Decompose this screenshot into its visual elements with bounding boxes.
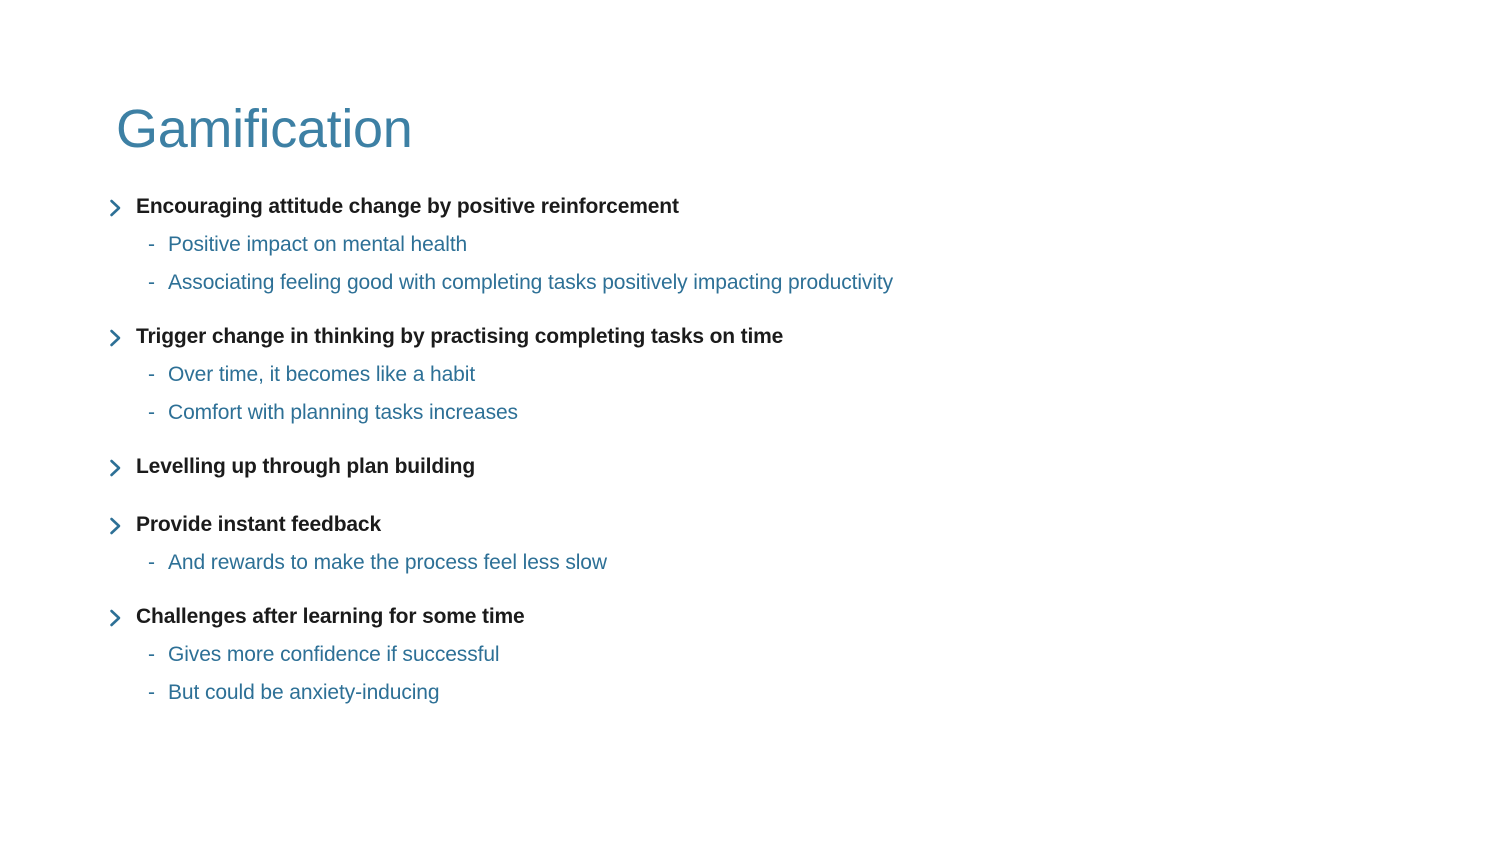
bullet-list: Encouraging attitude change by positive … bbox=[106, 193, 1446, 733]
bullet-item[interactable]: Encouraging attitude change by positive … bbox=[106, 193, 1446, 221]
bullet-item[interactable]: Levelling up through plan building bbox=[106, 453, 1446, 481]
dash-marker-icon: - bbox=[148, 640, 161, 669]
sub-bullet-item[interactable]: -Positive impact on mental health bbox=[106, 230, 1446, 259]
sub-bullet-label: Gives more confidence if successful bbox=[168, 640, 499, 669]
sub-bullet-label: Associating feeling good with completing… bbox=[168, 268, 893, 297]
page-title: Gamification bbox=[116, 95, 413, 163]
bullet-group: Challenges after learning for some time-… bbox=[106, 603, 1446, 707]
bullet-item[interactable]: Challenges after learning for some time bbox=[106, 603, 1446, 631]
chevron-right-icon bbox=[106, 454, 126, 482]
sub-bullet-list: -And rewards to make the process feel le… bbox=[106, 548, 1446, 577]
dash-marker-icon: - bbox=[148, 678, 161, 707]
bullet-item-label: Provide instant feedback bbox=[136, 511, 381, 539]
dash-marker-icon: - bbox=[148, 398, 161, 427]
sub-bullet-item[interactable]: -And rewards to make the process feel le… bbox=[106, 548, 1446, 577]
sub-bullet-label: But could be anxiety-inducing bbox=[168, 678, 439, 707]
slide-canvas: Gamification Encouraging attitude change… bbox=[0, 0, 1500, 844]
dash-marker-icon: - bbox=[148, 230, 161, 259]
chevron-right-icon bbox=[106, 324, 126, 352]
bullet-group: Encouraging attitude change by positive … bbox=[106, 193, 1446, 297]
bullet-item[interactable]: Trigger change in thinking by practising… bbox=[106, 323, 1446, 351]
sub-bullet-item[interactable]: -Associating feeling good with completin… bbox=[106, 268, 1446, 297]
bullet-item-label: Trigger change in thinking by practising… bbox=[136, 323, 783, 351]
dash-marker-icon: - bbox=[148, 360, 161, 389]
bullet-group: Trigger change in thinking by practising… bbox=[106, 323, 1446, 427]
chevron-right-icon bbox=[106, 512, 126, 540]
bullet-item-label: Challenges after learning for some time bbox=[136, 603, 525, 631]
sub-bullet-label: Positive impact on mental health bbox=[168, 230, 467, 259]
sub-bullet-list: -Over time, it becomes like a habit-Comf… bbox=[106, 360, 1446, 427]
bullet-item-label: Encouraging attitude change by positive … bbox=[136, 193, 679, 221]
sub-bullet-item[interactable]: -Gives more confidence if successful bbox=[106, 640, 1446, 669]
sub-bullet-label: And rewards to make the process feel les… bbox=[168, 548, 607, 577]
chevron-right-icon bbox=[106, 194, 126, 222]
sub-bullet-label: Comfort with planning tasks increases bbox=[168, 398, 518, 427]
dash-marker-icon: - bbox=[148, 268, 161, 297]
dash-marker-icon: - bbox=[148, 548, 161, 577]
sub-bullet-list: -Gives more confidence if successful-But… bbox=[106, 640, 1446, 707]
bullet-item[interactable]: Provide instant feedback bbox=[106, 511, 1446, 539]
bullet-group: Provide instant feedback-And rewards to … bbox=[106, 511, 1446, 577]
chevron-right-icon bbox=[106, 604, 126, 632]
bullet-group: Levelling up through plan building bbox=[106, 453, 1446, 481]
sub-bullet-label: Over time, it becomes like a habit bbox=[168, 360, 475, 389]
sub-bullet-item[interactable]: -Over time, it becomes like a habit bbox=[106, 360, 1446, 389]
sub-bullet-item[interactable]: -Comfort with planning tasks increases bbox=[106, 398, 1446, 427]
sub-bullet-item[interactable]: -But could be anxiety-inducing bbox=[106, 678, 1446, 707]
bullet-item-label: Levelling up through plan building bbox=[136, 453, 475, 481]
sub-bullet-list: -Positive impact on mental health-Associ… bbox=[106, 230, 1446, 297]
